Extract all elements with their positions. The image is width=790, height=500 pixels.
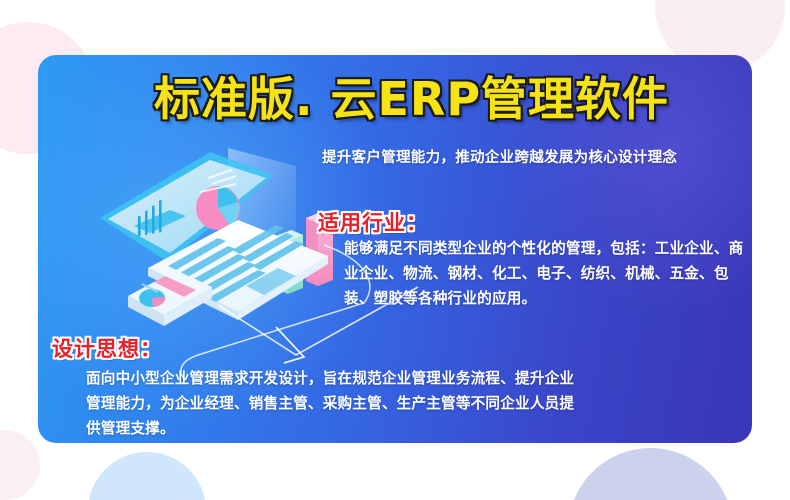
laptop-analytics-svg	[60, 140, 350, 355]
decorative-circle-bottom-left	[88, 452, 206, 500]
section-body-industry: 能够满足不同类型企业的个性化的管理，包括：工业企业、商业企业、物流、钢材、化工、…	[344, 236, 744, 311]
document-pie-chart	[139, 289, 165, 307]
isometric-laptop-illustration	[60, 140, 350, 355]
decorative-circle-bottom-right	[568, 448, 733, 500]
section-body-design: 面向中小型企业管理需求开发设计，旨在规范企业管理业务流程、提升企业管理能力，为企…	[86, 366, 576, 441]
section-heading-design: 设计思想：	[52, 333, 162, 363]
section-heading-industry: 适用行业：	[318, 207, 428, 237]
banner-canvas: 标准版. 云ERP管理软件 提升客户管理能力，推动企业跨越发展为核心设计理念 适…	[0, 0, 790, 500]
decorative-circle-bottom-left-small	[0, 430, 40, 500]
page-subtitle: 提升客户管理能力，推动企业跨越发展为核心设计理念	[322, 146, 677, 167]
page-title: 标准版. 云ERP管理软件	[154, 63, 754, 129]
